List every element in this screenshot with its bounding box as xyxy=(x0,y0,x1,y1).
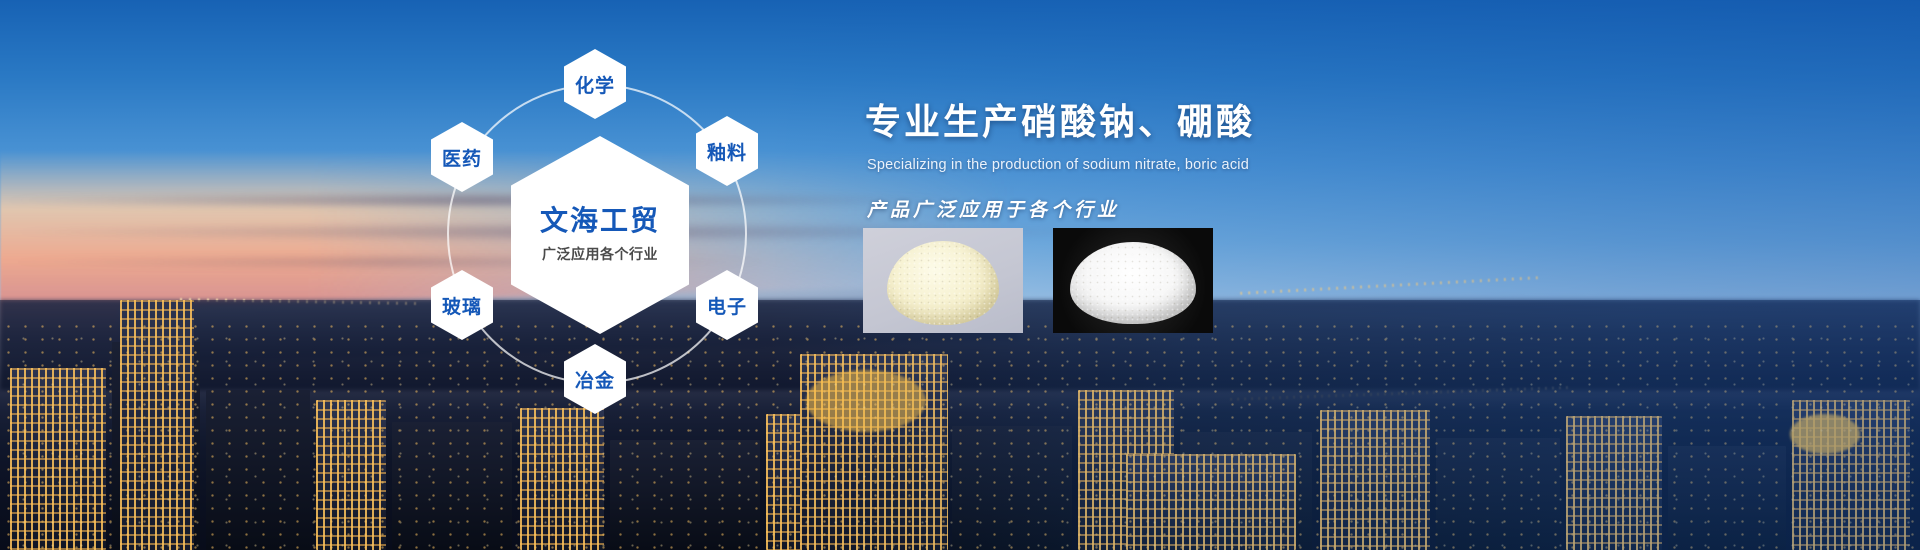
powder-texture xyxy=(887,241,999,325)
hex-node-label: 电子 xyxy=(707,292,747,319)
hex-node-label: 冶金 xyxy=(575,366,615,393)
industry-hex-graphic: 化学 釉料 电子 冶金 玻璃 医药 文海工贸 广泛应用各个行业 xyxy=(425,28,815,428)
company-tagline: 广泛应用各个行业 xyxy=(542,244,658,264)
headline: 专业生产硝酸钠、硼酸 xyxy=(865,100,1625,143)
hero-banner: 化学 釉料 电子 冶金 玻璃 医药 文海工贸 广泛应用各个行业 专业生产硝酸钠、… xyxy=(0,0,1920,550)
powder-pile xyxy=(1070,242,1196,324)
hex-node-label: 玻璃 xyxy=(442,292,482,319)
banner-copy: 专业生产硝酸钠、硼酸 Specializing in the productio… xyxy=(865,100,1625,222)
powder-texture xyxy=(1070,242,1196,324)
company-name: 文海工贸 xyxy=(540,206,660,237)
powder-pile xyxy=(887,241,999,325)
hex-node-label: 医药 xyxy=(442,144,482,171)
product-photo-white-powder xyxy=(1053,228,1213,333)
banner-tagline: 产品广泛应用于各个行业 xyxy=(867,195,1625,222)
product-photo-cream-powder xyxy=(863,228,1023,333)
hex-node-label: 化学 xyxy=(575,71,615,98)
headline-english: Specializing in the production of sodium… xyxy=(867,157,1625,173)
product-photos xyxy=(863,228,1213,333)
hex-node-label: 釉料 xyxy=(707,138,747,165)
